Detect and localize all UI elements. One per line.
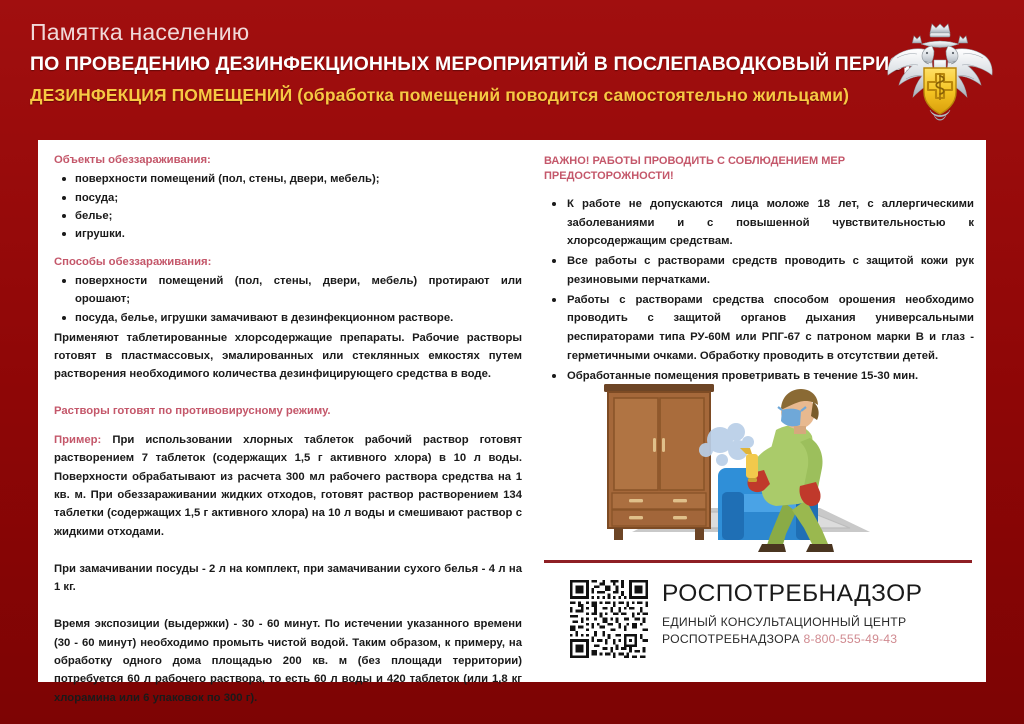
list-item: Все работы с растворами средств проводит… [544, 252, 974, 290]
warning-heading: ВАЖНО! РАБОТЫ ПРОВОДИТЬ С СОБЛЮДЕНИЕМ МЕ… [544, 154, 974, 185]
spacer [54, 543, 522, 560]
organization-name: РОСПОТРЕБНАДЗОР [662, 581, 922, 607]
rospotrebnadzor-eagle-emblem-icon [884, 20, 996, 126]
footer-divider [544, 560, 972, 563]
objects-list: поверхности помещений (пол, стены, двери… [54, 170, 522, 243]
list-item: К работе не допускаются лица моложе 18 л… [544, 195, 974, 251]
methods-heading: Способы обеззараживания: [54, 254, 522, 270]
consultation-center-label: РОСПОТРЕБНАДЗОРА [662, 632, 800, 646]
header-title-line-1: Памятка населению [30, 18, 1024, 47]
list-item: посуда; [54, 189, 522, 207]
warning-list: К работе не допускаются лица моложе 18 л… [544, 195, 974, 386]
objects-heading: Объекты обеззараживания: [54, 152, 522, 168]
methods-paragraph: Применяют таблетированные хлорсодержащие… [54, 329, 522, 384]
exposure-paragraph: Время экспозиции (выдержки) - 30 - 60 ми… [54, 615, 522, 706]
content-card: Объекты обеззараживания: поверхности пом… [38, 140, 986, 682]
poster-header: Памятка населению ПО ПРОВЕДЕНИЮ ДЕЗИНФЕК… [0, 0, 1024, 132]
example-label: Пример: [54, 434, 101, 446]
header-title-line-3: ДЕЗИНФЕКЦИЯ ПОМЕЩЕНИЙ (обработка помещен… [30, 84, 1024, 107]
list-item: Работы с растворами средства способом ор… [544, 291, 974, 366]
disinfection-illustration [570, 374, 936, 556]
example-paragraph: Пример: При использовании хлорных таблет… [54, 431, 522, 541]
spacer [54, 386, 522, 403]
header-title-line-2: ПО ПРОВЕДЕНИЮ ДЕЗИНФЕКЦИОННЫХ МЕРОПРИЯТИ… [30, 52, 1024, 77]
consultation-center-line-1: ЕДИНЫЙ КОНСУЛЬТАЦИОННЫЙ ЦЕНТР [662, 614, 922, 631]
spacer [54, 598, 522, 615]
right-column: ВАЖНО! РАБОТЫ ПРОВОДИТЬ С СОБЛЮДЕНИЕМ МЕ… [544, 152, 974, 672]
list-item: посуда, белье, игрушки замачивают в дези… [54, 309, 522, 327]
footer-text: РОСПОТРЕБНАДЗОР ЕДИНЫЙ КОНСУЛЬТАЦИОННЫЙ … [662, 580, 922, 648]
spacer [54, 421, 522, 431]
consultation-center-line-2: РОСПОТРЕБНАДЗОРА 8-800-555-49-43 [662, 631, 922, 648]
qr-code[interactable] [570, 580, 648, 658]
regime-heading: Растворы готовят по противовирусному реж… [54, 403, 522, 419]
methods-list: поверхности помещений (пол, стены, двери… [54, 272, 522, 327]
soaking-paragraph: При замачивании посуды - 2 л на комплект… [54, 560, 522, 597]
example-text: При использовании хлорных таблеток рабоч… [54, 434, 522, 537]
hotline-phone: 8-800-555-49-43 [803, 632, 897, 646]
rospotrebnadzor-footer: РОСПОТРЕБНАДЗОР ЕДИНЫЙ КОНСУЛЬТАЦИОННЫЙ … [570, 580, 922, 658]
left-column: Объекты обеззараживания: поверхности пом… [54, 152, 522, 672]
wardrobe [604, 384, 714, 540]
list-item: поверхности помещений (пол, стены, двери… [54, 272, 522, 309]
poster-root: Памятка населению ПО ПРОВЕДЕНИЮ ДЕЗИНФЕК… [0, 0, 1024, 724]
list-item: поверхности помещений (пол, стены, двери… [54, 170, 522, 188]
list-item: игрушки. [54, 225, 522, 243]
list-item: белье; [54, 207, 522, 225]
